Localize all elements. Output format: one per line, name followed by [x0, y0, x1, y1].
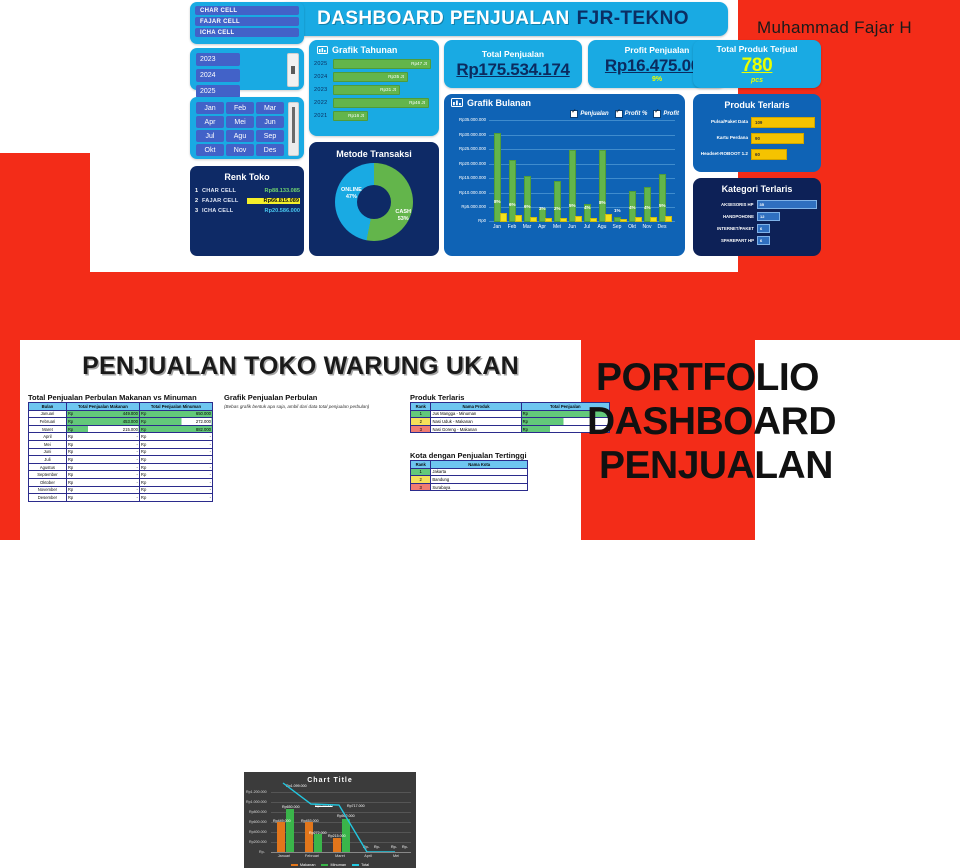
cell-minuman: Rp-	[139, 456, 212, 464]
profit-pct-label: 4%	[644, 205, 651, 210]
tahunan-year: 2025	[314, 61, 333, 67]
cell-minuman-value: -	[210, 495, 211, 500]
x-axis-tick: Nov	[640, 224, 654, 230]
cell-makanan-value: -	[137, 495, 138, 500]
cell-makanan-value: -	[137, 442, 138, 447]
month-button-jun[interactable]: Jun	[256, 116, 284, 128]
cell-minuman: Rp650.000	[139, 410, 212, 418]
cell-rank: 3	[411, 483, 431, 491]
month-button-mei[interactable]: Mei	[226, 116, 254, 128]
cell-rank: 1	[411, 410, 431, 418]
y-axis-tick: Rp5.000.000	[461, 204, 486, 209]
tahunan-value: Rp46 Jt	[409, 99, 425, 107]
col-rank: Rank	[411, 461, 431, 469]
profit-pct-label: 2%	[554, 206, 561, 211]
cell-minuman-value: -	[210, 487, 211, 492]
table-row: MeiRp-Rp-	[29, 440, 213, 448]
legend-item-penjualan[interactable]: Penjualan	[570, 110, 608, 118]
dashboard-title: DASHBOARD PENJUALAN FJR-TEKNO	[278, 2, 728, 36]
renk-value: Rp66.815.089	[247, 198, 300, 204]
y-axis-tick: Rp10.000.000	[459, 190, 486, 195]
year-scrollbar[interactable]	[287, 53, 299, 87]
x-axis-tick: Mei	[550, 224, 564, 230]
portfolio-line-2: DASHBOARD	[587, 400, 960, 444]
bar-penjualan	[494, 133, 501, 222]
kpi-label: Total Penjualan	[482, 49, 544, 59]
cell-bulan: Juli	[29, 456, 67, 464]
cell-bulan: September	[29, 471, 67, 479]
tahunan-year: 2021	[314, 113, 333, 119]
kota-heading: Kota dengan Penjualan Tertinggi	[410, 451, 527, 460]
kategori-row: SPAREPART HP 6	[693, 234, 821, 246]
kategori-value: 6	[760, 225, 762, 232]
tahunan-bar: Rp46 Jt	[333, 98, 429, 108]
table-row: 2Bandung	[411, 476, 528, 484]
checkbox-icon[interactable]	[615, 110, 623, 118]
bar-profit	[650, 217, 657, 222]
background-red-left	[0, 300, 20, 540]
donut-slice-online: ONLINE 47%	[341, 187, 362, 201]
tahunan-bar: Rp35 Jt	[333, 72, 408, 82]
cell-bulan: Januari	[29, 410, 67, 418]
y-axis-tick: Rp15.000.000	[459, 175, 486, 180]
profit-pct-label: 1%	[614, 208, 621, 213]
kpi-sub: 9%	[652, 76, 662, 83]
profit-pct-label: 4%	[584, 205, 591, 210]
legend-label: Penjualan	[580, 111, 608, 117]
store-filter-panel[interactable]: CHAR CELL FAJAR CELL ICHA CELL	[190, 2, 304, 44]
profit-pct-label: 8%	[494, 199, 501, 204]
portfolio-title: PORTFOLIO DASHBOARD PENJUALAN	[596, 356, 960, 488]
tahunan-value: Rp16 Jt	[348, 112, 364, 120]
cell-bulan: Februari	[29, 418, 67, 426]
slide-title: PENJUALAN TOKO WARUNG UKAN	[20, 352, 581, 381]
bar-profit	[545, 218, 552, 222]
cell-makanan: Rp-	[66, 478, 139, 486]
month-button-okt[interactable]: Okt	[196, 144, 224, 156]
legend-label: Profit %	[625, 111, 648, 117]
col-makanan: Total Penjualan Makanan	[66, 403, 139, 411]
produk-label: Headset-ROBOOT 1.2	[696, 151, 751, 157]
y-axis-tick: Rp800.000	[249, 810, 267, 814]
x-axis-tick: Februari	[300, 854, 324, 858]
bar-penjualan	[599, 150, 606, 222]
bar-penjualan	[509, 160, 516, 222]
month-button-nov[interactable]: Nov	[226, 144, 254, 156]
kategori-row: AKSESORIS HP 35	[693, 198, 821, 210]
store-filter-icha-cell[interactable]: ICHA CELL	[195, 28, 299, 37]
month-button-sep[interactable]: Sep	[256, 130, 284, 142]
slide-canvas: Muhammad Fajar H DASHBOARD PENJUALAN FJR…	[0, 0, 960, 540]
table-row: 1Jus Mangga - MinumanRp	[411, 410, 610, 418]
tahunan-bar: Rp31 Jt	[333, 85, 400, 95]
y-axis-tick: Rp20.000.000	[459, 161, 486, 166]
dashboard-title-main: DASHBOARD PENJUALAN	[317, 8, 570, 30]
cell-makanan: Rp449.000	[66, 410, 139, 418]
legend-item-makanan: Makanan	[291, 863, 316, 867]
profit-pct-label: 3%	[539, 206, 546, 211]
tahunan-value: Rp47 Jt	[411, 60, 427, 68]
cell-makanan: Rp-	[66, 448, 139, 456]
y-axis-tick: Rp1.000.000	[246, 800, 267, 804]
cell-minuman-value: 882.000	[196, 427, 211, 432]
cell-makanan: Rp-	[66, 463, 139, 471]
penjualan-perbulan-chart: Chart Title Rp1.200.000 Rp1.000.000 Rp80…	[244, 772, 416, 868]
tahunan-value: Rp31 Jt	[380, 86, 396, 94]
kategori-label: AKSESORIS HP	[696, 202, 757, 207]
month-button-jul[interactable]: Jul	[196, 130, 224, 142]
cell-minuman-value: -	[210, 480, 211, 485]
grafik-bulanan-title: Grafik Bulanan	[467, 98, 531, 108]
kpi-value: Rp175.534.174	[456, 60, 569, 80]
table-row: AprilRp-Rp-	[29, 433, 213, 441]
cell-nama: Nasi Uduk - Makanan	[431, 418, 521, 426]
renk-toko-row: 2 FAJAR CELL Rp66.815.089	[190, 196, 304, 206]
year-buttons[interactable]: 2023 2024 2025	[196, 53, 282, 98]
y-axis-tick: Rp35.000.000	[459, 117, 486, 122]
cell-bulan: Mei	[29, 440, 67, 448]
cell-makanan-value: -	[137, 465, 138, 470]
col-minuman: Total Penjualan Minuman	[139, 403, 212, 411]
renk-value: Rp20.586.000	[247, 208, 300, 214]
metode-transaksi-panel: Metode Transaksi ONLINE 47% CASH 53%	[309, 142, 439, 256]
table-header-row: Bulan Total Penjualan Makanan Total Penj…	[29, 403, 213, 411]
cell-nama-kota: Surabaya	[431, 483, 528, 491]
cell-makanan-value: 453.000	[123, 419, 138, 424]
cell-minuman: Rp-	[139, 494, 212, 502]
donut-slice-cash: CASH 53%	[395, 209, 411, 223]
cell-minuman: Rp-	[139, 478, 212, 486]
kategori-row: HANDPOHONE 12	[693, 210, 821, 222]
profit-pct-label: 6%	[524, 204, 531, 209]
cell-nama: Jus Mangga - Minuman	[431, 410, 521, 418]
cell-makanan-value: -	[137, 434, 138, 439]
table-header-row: Rank Nama Kota	[411, 461, 528, 469]
donut-cash-pct: 53%	[395, 216, 411, 223]
table-row: 3Nasi Goreng - MakananRp	[411, 425, 610, 433]
renk-store-name: FAJAR CELL	[202, 198, 247, 204]
produk-bar: 60	[751, 149, 787, 160]
table-row: MaretRp215.000Rp882.000	[29, 425, 213, 433]
y-axis-tick: Rp30.000.000	[459, 132, 486, 137]
produk-label: Pulsa/Paket Data	[696, 119, 751, 125]
x-axis-tick: Mar	[520, 224, 534, 230]
cell-minuman-value: -	[210, 465, 211, 470]
cell-nama-kota: Bandung	[431, 476, 528, 484]
cell-makanan: Rp-	[66, 486, 139, 494]
chart-icon	[451, 98, 463, 108]
profit-pct-label: 8%	[599, 200, 606, 205]
kategori-bar: 12	[757, 212, 780, 221]
produk-row: Pulsa/Paket Data 109	[693, 114, 821, 130]
cell-bulan: Oktober	[29, 478, 67, 486]
cell-makanan: Rp-	[66, 456, 139, 464]
table-row: JanuariRp449.000Rp650.000	[29, 410, 213, 418]
table-row: 1Jakarta	[411, 468, 528, 476]
cell-bulan: Maret	[29, 425, 67, 433]
bar-penjualan	[554, 181, 561, 222]
legend-label: Profit	[663, 111, 679, 117]
legend-item-profit[interactable]: Profit	[653, 110, 679, 118]
kpi-value: 780	[742, 55, 773, 77]
cell-rank: 2	[411, 418, 431, 426]
table-row: DesemberRp-Rp-	[29, 494, 213, 502]
renk-rank: 1	[195, 188, 202, 194]
kategori-value: 35	[760, 201, 764, 208]
chart-note: (Bebas grafik bentuk apa saja, ambil dar…	[224, 404, 394, 409]
background-white-topleft	[0, 0, 90, 153]
cell-makanan-value: -	[137, 457, 138, 462]
profit-pct-label: 6%	[509, 202, 516, 207]
y-axis-tick: Rp0	[478, 218, 486, 223]
penjualan-table: Bulan Total Penjualan Makanan Total Penj…	[28, 402, 213, 502]
table-row: 2Nasi Uduk - MakananRp	[411, 418, 610, 426]
x-axis-tick: Des	[655, 224, 669, 230]
cell-minuman: Rp-	[139, 448, 212, 456]
renk-toko-row: 1 CHAR CELL Rp88.133.085	[190, 186, 304, 196]
cell-makanan: Rp-	[66, 471, 139, 479]
month-button-apr[interactable]: Apr	[196, 116, 224, 128]
grafik-bulanan-panel: Grafik Bulanan Penjualan Profit % Profit…	[444, 94, 685, 256]
kategori-terlaris-panel: Kategori Terlaris AKSESORIS HP 35 HANDPO…	[693, 178, 821, 256]
profit-pct-label: 4%	[629, 205, 636, 210]
legend-item-total: Total	[352, 863, 369, 867]
produk-label: Kartu Perdana	[696, 135, 751, 141]
year-button-2024[interactable]: 2024	[196, 69, 240, 82]
donut-online-label: ONLINE	[341, 187, 362, 194]
kpi-sub: pcs	[751, 77, 763, 84]
cell-bulan: Juni	[29, 448, 67, 456]
donut-online-pct: 47%	[341, 194, 362, 201]
kpi-label: Profit Penjualan	[625, 45, 690, 55]
month-button-des[interactable]: Des	[256, 144, 284, 156]
cell-minuman-value: 650.000	[196, 411, 211, 416]
table-row: JuliRp-Rp-	[29, 456, 213, 464]
kategori-label: SPAREPART HP	[696, 238, 757, 243]
x-axis-tick: Sep	[610, 224, 624, 230]
cell-makanan-value: -	[137, 472, 138, 477]
cell-makanan-value: 215.000	[123, 427, 138, 432]
col-rank: Rank	[411, 403, 431, 411]
cell-minuman-value: -	[210, 449, 211, 454]
legend-label: Minuman	[330, 863, 346, 867]
kpi-label: Total Produk Terjual	[717, 44, 798, 54]
grafik-bulanan-legend: Penjualan Profit % Profit	[570, 110, 679, 118]
table-row: SeptemberRp-Rp-	[29, 471, 213, 479]
cell-minuman: Rp882.000	[139, 425, 212, 433]
table-row: AgustusRp-Rp-	[29, 463, 213, 471]
tahunan-row: 2022 Rp46 Jt	[309, 96, 439, 109]
tahunan-row: 2023 Rp31 Jt	[309, 83, 439, 96]
legend-label: Makanan	[300, 863, 316, 867]
cell-nama-kota: Jakarta	[431, 468, 528, 476]
y-axis-tick: Rp-	[259, 850, 265, 854]
month-button-jan[interactable]: Jan	[196, 102, 224, 114]
kategori-bar: 6	[757, 236, 770, 245]
x-axis-tick: Maret	[328, 854, 352, 858]
grafik-tahunan-panel: Grafik Tahunan 2025 Rp47 Jt 2024 Rp35 Jt…	[309, 40, 439, 136]
chart-heading: Grafik Penjualan Perbulan	[224, 393, 317, 402]
cell-minuman-value: -	[210, 434, 211, 439]
produk-terlaris-table: Rank Nama Produk Total Penjualan 1Jus Ma…	[410, 402, 610, 433]
cell-minuman: Rp-	[139, 471, 212, 479]
total-line-series	[271, 772, 411, 852]
x-axis-tick: Agu	[595, 224, 609, 230]
checkbox-icon[interactable]	[653, 110, 661, 118]
legend-item-profit-pct[interactable]: Profit %	[615, 110, 648, 118]
profit-pct-label: 5%	[569, 203, 576, 208]
cell-minuman: Rp-	[139, 463, 212, 471]
cell-bulan: November	[29, 486, 67, 494]
cell-minuman-value: -	[210, 457, 211, 462]
kategori-value: 6	[760, 237, 762, 244]
x-axis-tick: Feb	[505, 224, 519, 230]
bar-profit	[575, 216, 582, 222]
renk-rank: 3	[195, 208, 202, 214]
kpi-total-penjualan: Total Penjualan Rp175.534.174	[444, 40, 582, 88]
tahunan-year: 2022	[314, 100, 333, 106]
cell-minuman: Rp-	[139, 440, 212, 448]
month-button-feb[interactable]: Feb	[226, 102, 254, 114]
y-axis-tick: Rp1.200.000	[246, 790, 267, 794]
cell-makanan: Rp-	[66, 433, 139, 441]
year-button-2023[interactable]: 2023	[196, 53, 240, 66]
kota-table: Rank Nama Kota 1Jakarta 2Bandung 3Suraba…	[410, 460, 528, 491]
month-button-mar[interactable]: Mar	[256, 102, 284, 114]
table-row: FebruariRp453.000Rp272.000	[29, 418, 213, 426]
tahunan-row: 2025 Rp47 Jt	[309, 57, 439, 70]
bar-profit	[590, 218, 597, 222]
produk-value: 90	[755, 134, 760, 143]
bar-penjualan	[659, 174, 666, 222]
x-axis-tick: Okt	[625, 224, 639, 230]
dark-chart-plot: Rp449.000 Rp650.000 Rp1.099.000 Rp453.00…	[271, 772, 411, 852]
month-buttons[interactable]: Jan Feb Mar Apr Mei Jun Jul Agu Sep Okt …	[196, 102, 284, 156]
month-filter-panel[interactable]: Jan Feb Mar Apr Mei Jun Jul Agu Sep Okt …	[190, 97, 304, 159]
table-header-row: Rank Nama Produk Total Penjualan	[411, 403, 610, 411]
x-axis-tick: Jun	[565, 224, 579, 230]
bar-profit	[620, 219, 627, 222]
bar-profit	[515, 215, 522, 222]
table-heading-penjualan: Total Penjualan Perbulan Makanan vs Minu…	[28, 393, 197, 402]
renk-toko-title: Renk Toko	[190, 166, 304, 186]
produk-row: Kartu Perdana 90	[693, 130, 821, 146]
tahunan-row: 2021 Rp16 Jt	[309, 109, 439, 122]
cell-makanan-value: -	[137, 487, 138, 492]
store-filter-fajar-cell[interactable]: FAJAR CELL	[195, 17, 299, 26]
dashboard-screenshot: DASHBOARD PENJUALAN FJR-TEKNO CHAR CELL …	[90, 0, 738, 272]
bar-profit	[665, 216, 672, 222]
chart-icon	[317, 46, 328, 55]
produk-terlaris-heading: Produk Terlaris	[410, 393, 464, 402]
cell-minuman: Rp-	[139, 433, 212, 441]
cell-makanan: Rp215.000	[66, 425, 139, 433]
col-nama-produk: Nama Produk	[431, 403, 521, 411]
cell-makanan: Rp-	[66, 494, 139, 502]
cell-makanan-value: -	[137, 480, 138, 485]
tahunan-year: 2023	[314, 87, 333, 93]
x-axis-tick: Januari	[272, 854, 296, 858]
cell-minuman: Rp-	[139, 486, 212, 494]
col-bulan: Bulan	[29, 403, 67, 411]
kategori-bar: 35	[757, 200, 818, 209]
tahunan-value: Rp35 Jt	[388, 73, 404, 81]
metode-transaksi-donut: ONLINE 47% CASH 53%	[335, 163, 413, 241]
month-scrollbar[interactable]	[288, 102, 299, 156]
grafik-bulanan-header: Grafik Bulanan	[444, 94, 685, 108]
store-filter-char-cell[interactable]: CHAR CELL	[195, 6, 299, 15]
produk-value: 109	[755, 118, 762, 127]
cell-makanan-value: -	[137, 449, 138, 454]
kategori-terlaris-title: Kategori Terlaris	[693, 178, 821, 198]
renk-store-name: CHAR CELL	[202, 188, 247, 194]
metode-transaksi-title: Metode Transaksi	[309, 142, 439, 161]
cell-minuman-value: 272.000	[196, 419, 211, 424]
bar-profit	[530, 217, 537, 222]
bar-profit	[605, 214, 612, 222]
grafik-tahunan-header: Grafik Tahunan	[309, 40, 439, 57]
produk-value: 60	[755, 150, 760, 159]
dashboard-inner: DASHBOARD PENJUALAN FJR-TEKNO CHAR CELL …	[93, 0, 735, 268]
col-nama-kota: Nama Kota	[431, 461, 528, 469]
renk-rank: 2	[195, 198, 202, 204]
y-axis-tick: Rp25.000.000	[459, 146, 486, 151]
renk-toko-panel: Renk Toko 1 CHAR CELL Rp88.133.085 2 FAJ…	[190, 166, 304, 256]
tahunan-bar: Rp16 Jt	[333, 111, 368, 121]
grafik-bulanan-plot: Rp35.000.000 Rp30.000.000 Rp25.000.000 R…	[489, 120, 675, 222]
table-row: JuniRp-Rp-	[29, 448, 213, 456]
portfolio-line-3: PENJUALAN	[599, 444, 960, 488]
produk-bar: 109	[751, 117, 815, 128]
month-button-agu[interactable]: Agu	[226, 130, 254, 142]
produk-terlaris-title: Produk Terlaris	[693, 94, 821, 114]
cell-makanan-value: 449.000	[123, 411, 138, 416]
kategori-label: HANDPOHONE	[696, 214, 757, 219]
kategori-label: INTERNET/PAKET	[696, 226, 757, 231]
kategori-value: 12	[760, 213, 764, 220]
x-axis-tick: Apr	[535, 224, 549, 230]
bar-profit	[635, 217, 642, 222]
background-red-band	[0, 300, 960, 340]
renk-store-name: ICHA CELL	[202, 208, 247, 214]
cell-minuman-value: -	[210, 442, 211, 447]
y-axis-tick: Rp200.000	[249, 840, 267, 844]
cell-makanan: Rp453.000	[66, 418, 139, 426]
checkbox-icon[interactable]	[570, 110, 578, 118]
y-axis-tick: Rp600.000	[249, 820, 267, 824]
cell-bulan: Agustus	[29, 463, 67, 471]
legend-item-minuman: Minuman	[321, 863, 346, 867]
donut-cash-label: CASH	[395, 209, 411, 216]
x-axis-tick: Jan	[490, 224, 504, 230]
bar-profit	[560, 218, 567, 222]
profit-pct-label: 5%	[659, 203, 666, 208]
year-filter-panel[interactable]: 2023 2024 2025	[190, 48, 304, 90]
kpi-total-produk-terjual: Total Produk Terjual 780 pcs	[693, 40, 821, 88]
cell-minuman: Rp272.000	[139, 418, 212, 426]
bar-penjualan	[569, 150, 576, 222]
portfolio-line-1: PORTFOLIO	[596, 356, 960, 400]
author-name: Muhammad Fajar H	[757, 18, 912, 38]
produk-terlaris-panel: Produk Terlaris Pulsa/Paket Data 109 Kar…	[693, 94, 821, 172]
x-axis-tick: April	[356, 854, 380, 858]
cell-minuman-value: -	[210, 472, 211, 477]
bar-penjualan	[524, 176, 531, 222]
cell-makanan: Rp-	[66, 440, 139, 448]
cell-bulan: April	[29, 433, 67, 441]
tahunan-year: 2024	[314, 74, 333, 80]
cell-rank: 1	[411, 468, 431, 476]
